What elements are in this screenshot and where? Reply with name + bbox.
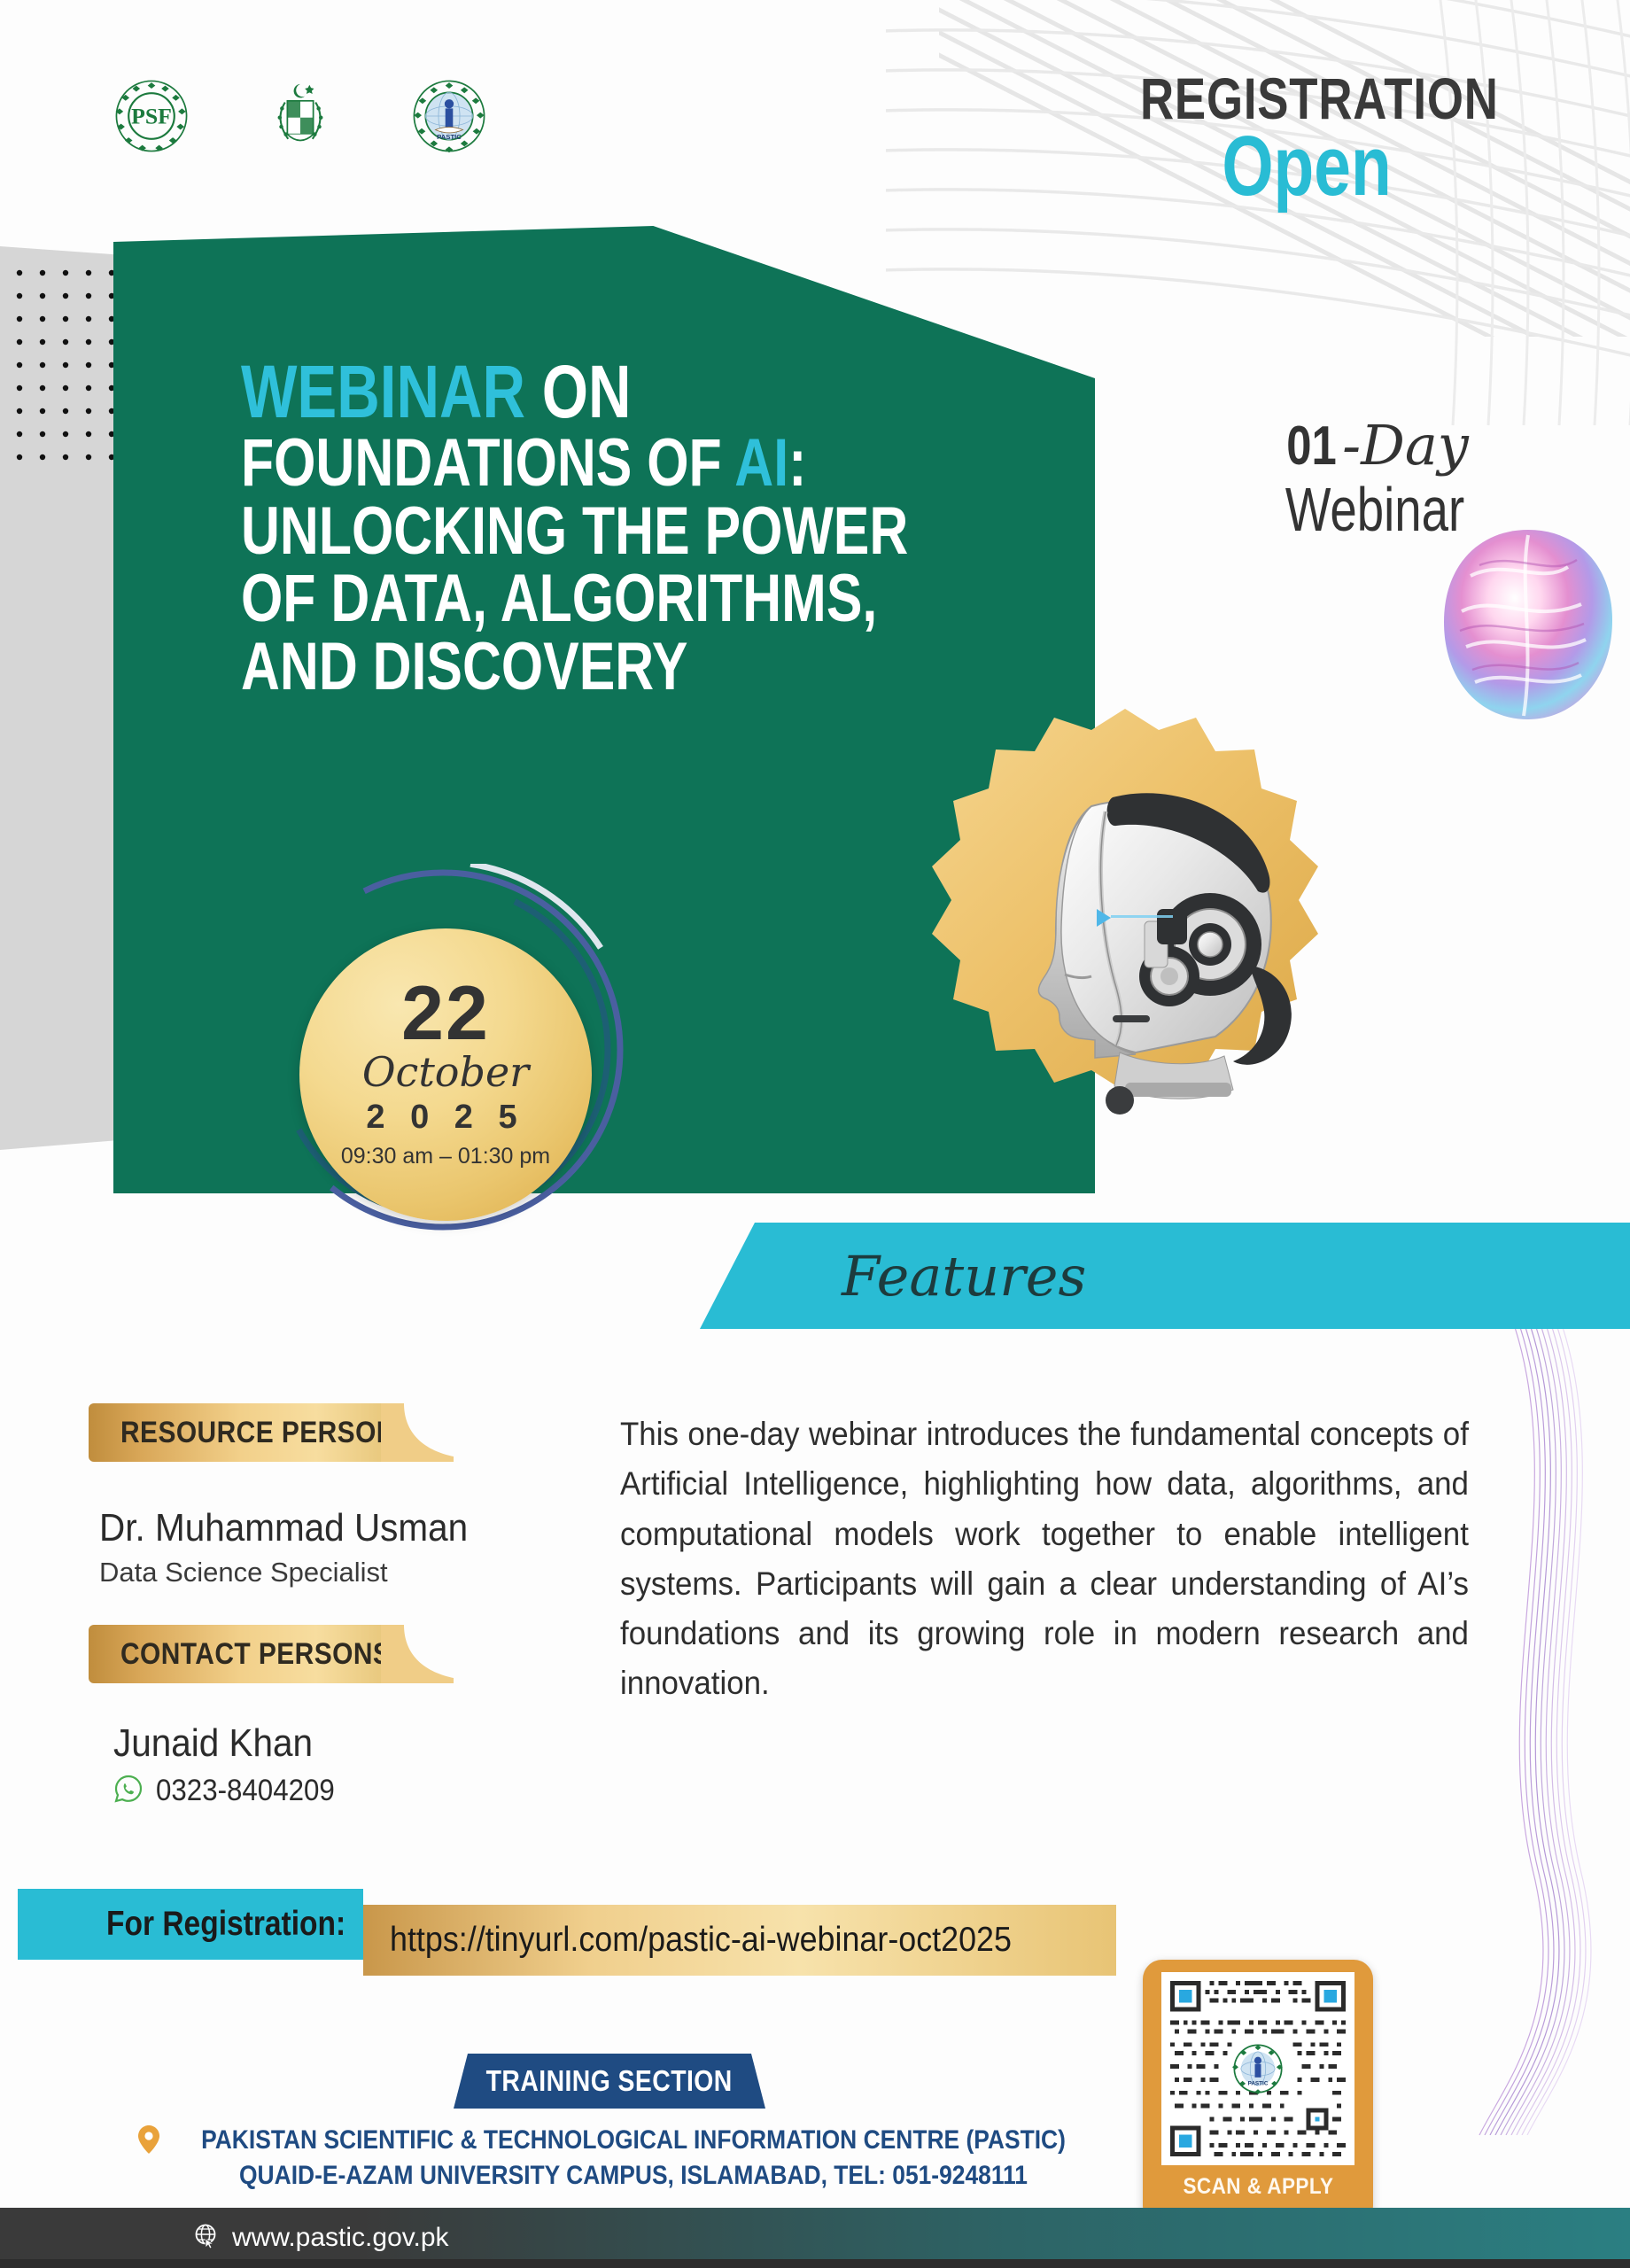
registration-label-block: For Registration: [18, 1889, 363, 1960]
logo-row: PSF [113, 78, 487, 154]
event-date-badge: 22 October 2 0 2 5 09:30 am – 01:30 pm [299, 928, 592, 1221]
title-line-3: UNLOCKING THE POWER [241, 498, 879, 566]
features-heading: Features [842, 1244, 1086, 1309]
contact-persons-label: CONTACT PERSONS: [120, 1637, 400, 1672]
duration-day-word: Day [1361, 413, 1469, 478]
contact-persons-ribbon: CONTACT PERSONS: [89, 1625, 381, 1683]
holographic-brain-graphic [1435, 523, 1621, 726]
resource-person-label: RESOURCE PERSON: [120, 1416, 405, 1450]
organizer-address: PAKISTAN SCIENTIFIC & TECHNOLOGICAL INFO… [133, 2123, 1134, 2194]
pakistan-science-foundation-logo: PSF [113, 78, 190, 154]
title-accent-ai: AI [734, 425, 788, 501]
qr-code-card[interactable]: PASTIC SCAN & APPLY [1143, 1960, 1373, 2225]
svg-text:PASTIC: PASTIC [1248, 2081, 1269, 2087]
registration-url-block[interactable]: https://tinyurl.com/pastic-ai-webinar-oc… [363, 1905, 1116, 1976]
title-line-1: WEBINAR ON [241, 354, 879, 430]
contact-phone-row[interactable]: 0323-8404209 [113, 1774, 350, 1808]
footer-website-url: www.pastic.gov.pk [232, 2223, 449, 2253]
duration-line-1: 01-Day [1215, 418, 1534, 474]
footer-bottom-strip [0, 2259, 1630, 2268]
globe-icon [193, 2223, 220, 2254]
robot-head-graphic [904, 700, 1347, 1196]
event-time: 09:30 am – 01:30 pm [341, 1144, 550, 1169]
duration-dash: - [1342, 413, 1361, 478]
qr-code-image: PASTIC [1161, 1972, 1354, 2165]
event-year: 2 0 2 5 [366, 1099, 524, 1137]
resource-person-ribbon: RESOURCE PERSON: [89, 1403, 381, 1462]
registration-open-text: Open [1145, 128, 1470, 205]
svg-text:PASTIC: PASTIC [437, 133, 462, 141]
resource-person-role: Data Science Specialist [99, 1557, 388, 1588]
resource-person-name: Dr. Muhammad Usman [99, 1506, 468, 1550]
government-of-pakistan-emblem [262, 78, 338, 154]
title-accent-webinar: WEBINAR [241, 350, 525, 433]
registration-cta-label: For Registration: [106, 1905, 345, 1944]
training-section-tab: TRAINING SECTION [454, 2054, 765, 2109]
footer-website-row[interactable]: www.pastic.gov.pk [193, 2223, 449, 2254]
ribbon-tail-shape [381, 1403, 454, 1462]
event-day: 22 [401, 980, 490, 1048]
svg-text:PSF: PSF [131, 104, 172, 129]
title-line-4: OF DATA, ALGORITHMS, [241, 565, 879, 633]
whatsapp-icon [113, 1774, 144, 1808]
title-line1-rest: ON [525, 350, 631, 433]
qr-center-pastic-logo: PASTIC [1232, 2043, 1284, 2094]
ribbon-tail-shape-2 [381, 1625, 454, 1683]
contact-person-name: Junaid Khan [113, 1721, 313, 1766]
title-line2-pre: FOUNDATIONS OF [241, 425, 734, 501]
training-section-label: TRAINING SECTION [486, 2064, 733, 2098]
organizer-address-line-2: QUAID-E-AZAM UNIVERSITY CAMPUS, ISLAMABA… [193, 2158, 1074, 2194]
features-banner: Features [700, 1223, 1630, 1329]
wave-lines-decoration [1471, 1302, 1630, 2135]
duration-number: 01 [1286, 419, 1337, 474]
title-line-5: AND DISCOVERY [241, 633, 879, 702]
registration-status-block: REGISTRATION Open [1098, 71, 1515, 206]
poster-canvas: PSF [0, 0, 1630, 2268]
title-line2-post: : [788, 425, 806, 501]
qr-scan-apply-label: SCAN & APPLY [1183, 2174, 1333, 2200]
title-line-2: FOUNDATIONS OF AI: [241, 430, 879, 498]
webinar-title: WEBINAR ON FOUNDATIONS OF AI: UNLOCKING … [241, 354, 1038, 702]
event-month: October [362, 1051, 529, 1093]
pastic-logo: PASTIC [411, 78, 487, 154]
contact-person-phone: 0323-8404209 [156, 1774, 335, 1808]
features-description: This one-day webinar introduces the fund… [620, 1409, 1469, 1708]
organizer-address-line-1: PAKISTAN SCIENTIFIC & TECHNOLOGICAL INFO… [193, 2123, 1074, 2158]
registration-url: https://tinyurl.com/pastic-ai-webinar-oc… [390, 1921, 1012, 1960]
